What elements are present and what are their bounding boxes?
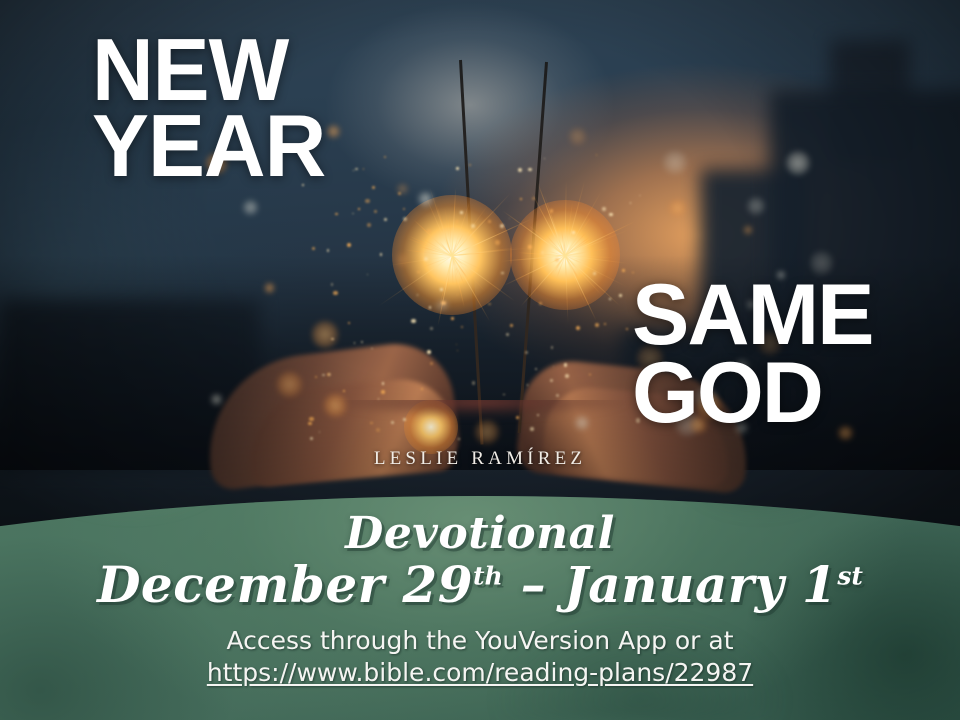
band-photo-bleed — [330, 400, 630, 420]
access-instruction: Access through the YouVersion App or at — [0, 626, 960, 655]
date-start-suffix: th — [473, 561, 503, 590]
date-end: January 1 — [564, 555, 837, 614]
date-end-suffix: st — [837, 561, 863, 590]
reading-plan-url[interactable]: https://www.bible.com/reading-plans/2298… — [0, 658, 960, 687]
date-start: December 29 — [97, 555, 473, 614]
devotional-dates: December 29th – January 1st — [0, 555, 960, 614]
devotional-title: Devotional — [0, 508, 960, 559]
slide-canvas: NEW YEAR SAME GOD LESLIE RAMÍREZ Devotio… — [0, 0, 960, 720]
headline-new-year: NEW YEAR — [92, 34, 325, 182]
date-separator: – — [503, 555, 564, 614]
headline-line-year: YEAR — [92, 110, 325, 182]
